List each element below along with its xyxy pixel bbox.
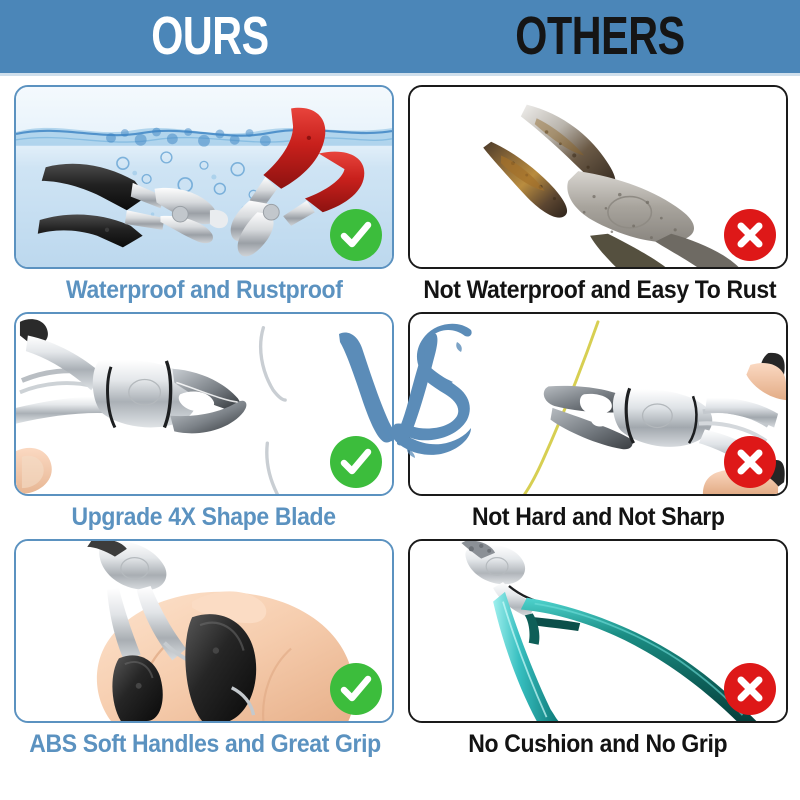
cross-icon <box>724 436 776 488</box>
ours-caption-text: Waterproof and Rustproof <box>66 273 343 307</box>
ours-photo-card[interactable] <box>14 539 394 723</box>
ours-caption-text: Upgrade 4X Shape Blade <box>72 500 336 534</box>
cross-icon <box>724 209 776 261</box>
others-caption: No Cushion and No Grip <box>408 727 788 761</box>
check-icon <box>330 436 382 488</box>
ours-caption: Upgrade 4X Shape Blade <box>14 500 394 534</box>
cross-icon <box>724 663 776 715</box>
ours-photo-card[interactable] <box>14 312 394 496</box>
others-caption-text: No Cushion and No Grip <box>469 727 728 761</box>
ours-cell-waterproof: Waterproof and Rustproof <box>14 85 394 312</box>
others-caption: Not Hard and Not Sharp <box>408 500 788 534</box>
ours-cell-blade: Upgrade 4X Shape Blade <box>14 312 394 539</box>
ours-cell-grip: ABS Soft Handles and Great Grip <box>14 539 394 766</box>
header-title-others: OTHERS <box>515 10 684 64</box>
ours-photo-card[interactable] <box>14 85 394 269</box>
comparison-grid: Waterproof and Rustproof <box>0 73 800 800</box>
comparison-infographic: OURS OTHERS <box>0 0 800 800</box>
comparison-row: ABS Soft Handles and Great Grip <box>0 539 800 766</box>
ours-caption-text: ABS Soft Handles and Great Grip <box>29 727 381 761</box>
comparison-row: Waterproof and Rustproof <box>0 85 800 312</box>
others-cell-dull: Not Hard and Not Sharp <box>408 312 788 539</box>
check-icon <box>330 209 382 261</box>
others-photo-card[interactable] <box>408 312 788 496</box>
ours-caption: Waterproof and Rustproof <box>14 273 394 307</box>
header-banner: OURS OTHERS <box>0 0 800 73</box>
header-title-ours: OURS <box>151 10 269 64</box>
others-cell-rust: Not Waterproof and Easy To Rust <box>408 85 788 312</box>
others-photo-card[interactable] <box>408 85 788 269</box>
others-caption-text: Not Hard and Not Sharp <box>472 500 725 534</box>
comparison-row: Upgrade 4X Shape Blade <box>0 312 800 539</box>
check-icon <box>330 663 382 715</box>
others-photo-card[interactable] <box>408 539 788 723</box>
others-caption-text: Not Waterproof and Easy To Rust <box>423 273 776 307</box>
others-caption: Not Waterproof and Easy To Rust <box>408 273 788 307</box>
ours-caption: ABS Soft Handles and Great Grip <box>14 727 394 761</box>
others-cell-nogrip: No Cushion and No Grip <box>408 539 788 766</box>
